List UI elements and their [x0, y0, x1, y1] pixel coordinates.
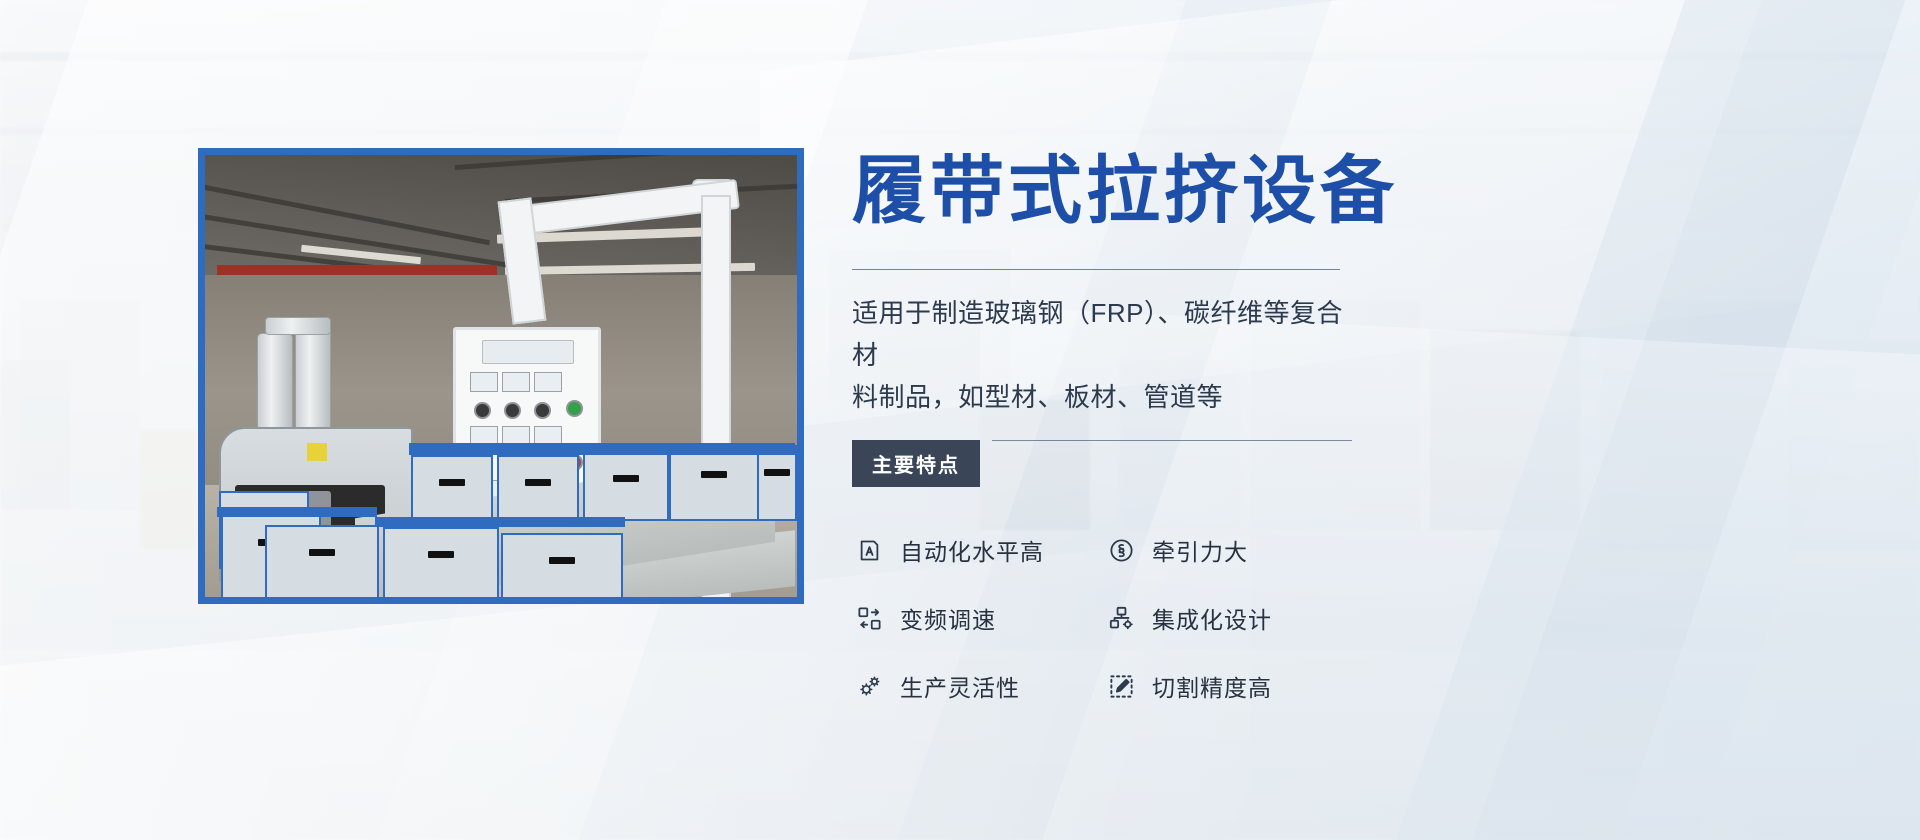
subtitle-line-2: 料制品，如型材、板材、管道等 — [852, 382, 1223, 412]
banner-content: 履带式拉挤设备 适用于制造玻璃钢（FRP）、碳纤维等复合材 料制品，如型材、板材… — [852, 150, 1862, 737]
feature-row: 生产灵活性 切割精度高 — [852, 669, 1372, 703]
feature-label: 切割精度高 — [1152, 669, 1272, 703]
automation-square-a-icon — [852, 533, 886, 567]
traction-waves-circle-icon — [1104, 533, 1138, 567]
badge-row: 主要特点 — [852, 440, 1352, 487]
feature-row: 变频调速 集成化设计 — [852, 601, 1372, 635]
feature-item-traction: 牵引力大 — [1104, 533, 1356, 567]
feature-item-frequency: 变频调速 — [852, 601, 1104, 635]
feature-item-automation: 自动化水平高 — [852, 533, 1104, 567]
title-divider — [852, 269, 1340, 270]
cutting-precision-pen-icon — [1104, 669, 1138, 703]
feature-item-flexible: 生产灵活性 — [852, 669, 1104, 703]
flexible-gears-icon — [852, 669, 886, 703]
frequency-convert-icon — [852, 601, 886, 635]
integrated-hierarchy-gear-icon — [1104, 601, 1138, 635]
feature-label: 变频调速 — [900, 601, 996, 635]
page-title: 履带式拉挤设备 — [852, 150, 1862, 233]
feature-label: 集成化设计 — [1152, 601, 1272, 635]
feature-label: 自动化水平高 — [900, 533, 1044, 567]
badge-divider — [992, 440, 1352, 441]
product-photo — [198, 148, 804, 604]
feature-list: 自动化水平高 牵引力大 — [852, 533, 1372, 703]
banner-subtitle: 适用于制造玻璃钢（FRP）、碳纤维等复合材 料制品，如型材、板材、管道等 — [852, 292, 1352, 418]
feature-item-cutting: 切割精度高 — [1104, 669, 1356, 703]
product-banner: 履带式拉挤设备 适用于制造玻璃钢（FRP）、碳纤维等复合材 料制品，如型材、板材… — [0, 0, 1920, 840]
feature-item-integrated: 集成化设计 — [1104, 601, 1356, 635]
subtitle-line-1: 适用于制造玻璃钢（FRP）、碳纤维等复合材 — [852, 298, 1343, 370]
status-badge: 主要特点 — [852, 440, 980, 487]
feature-label: 生产灵活性 — [900, 669, 1020, 703]
feature-label: 牵引力大 — [1152, 533, 1248, 567]
feature-row: 自动化水平高 牵引力大 — [852, 533, 1372, 567]
